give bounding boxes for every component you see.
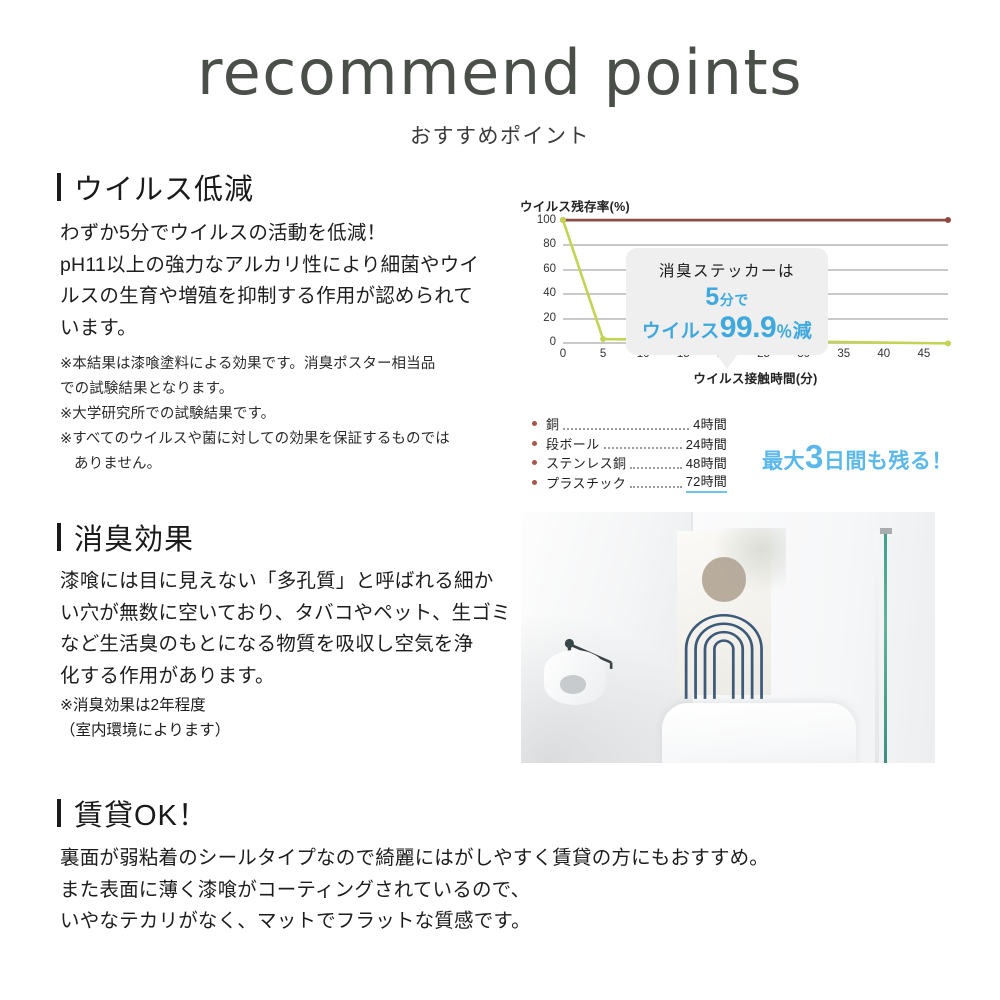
page-title: recommend points: [0, 42, 1000, 104]
recommend-points-page: recommend points おすすめポイント ウイルス低減 わずか5分でウ…: [0, 0, 1000, 1000]
photo-poster: [677, 531, 770, 695]
legend-item-value: 4時間: [693, 414, 727, 433]
section-notes-deodorizing: ※消臭効果は2年程度 （室内環境によります）: [60, 694, 520, 744]
body-line: また表面に薄く漆喰がコーティングされているので、: [60, 875, 960, 907]
note-line: ※本結果は漆喰塗料による効果です。消臭ポスター相当品: [60, 352, 510, 377]
legend-item: プラスチック 72時間: [532, 473, 727, 493]
callout-line-2: 5分で: [634, 285, 820, 310]
note-line: ありません。: [60, 452, 510, 477]
body-line: います。: [60, 313, 510, 345]
note-line: ※消臭効果は2年程度: [60, 694, 520, 719]
toilet-interior-photo: [521, 512, 935, 763]
callout-percent-sign: ％: [776, 324, 793, 341]
legend-item-name: ステンレス銅: [546, 453, 626, 472]
highlight-number: 3: [805, 438, 824, 475]
series-marker: [945, 340, 951, 346]
photo-toilet-paper-core: [560, 675, 587, 694]
callout-percent-value: 99.9: [720, 311, 776, 344]
chart-legend: 銅 4時間 段ボール 24時間 ステンレス銅 48時間 プラスチック 72時間: [532, 414, 727, 492]
note-line: （室内環境によります）: [60, 719, 520, 744]
legend-bullet-icon: [532, 421, 537, 426]
y-tick-label: 40: [543, 287, 556, 299]
callout-minutes-suffix: で: [734, 292, 749, 308]
legend-item: 段ボール 24時間: [532, 434, 727, 454]
callout-virus-word: ウイルス: [642, 321, 720, 342]
callout-minutes: 5: [705, 283, 719, 311]
legend-item: 銅 4時間: [532, 414, 727, 434]
x-tick-label: 0: [560, 348, 566, 360]
body-line: いやなテカリがなく、マットでフラットな質感です。: [60, 906, 960, 938]
section-heading-label: 消臭効果: [74, 516, 194, 558]
legend-bullet-icon: [532, 441, 537, 446]
heading-accent-bar: [57, 799, 61, 827]
x-tick-label: 5: [600, 348, 606, 360]
highlight-suffix: 日間も残る！: [824, 450, 953, 473]
section-notes-virus-reduction: ※本結果は漆喰塗料による効果です。消臭ポスター相当品 での試験結果となります。 …: [60, 352, 510, 477]
section-heading-virus-reduction: ウイルス低減: [57, 166, 254, 208]
y-tick-label: 0: [550, 336, 556, 348]
legend-leader-dots: [563, 418, 689, 430]
legend-bullet-icon: [532, 460, 537, 465]
section-body-deodorizing: 漆喰には目に見えない「多孔質」と呼ばれる細か い穴が無数に空いており、タバコやペ…: [60, 566, 520, 692]
x-tick-label: 35: [837, 348, 850, 360]
callout-minutes-unit: 分: [720, 292, 735, 308]
y-tick-label: 80: [543, 238, 556, 250]
legend-highlight-note: 最大3日間も残る！: [762, 440, 953, 473]
body-line: 裏面が弱粘着のシールタイプなので綺麗にはがしやすく賃貸の方にもおすすめ。: [60, 843, 960, 875]
legend-item-value: 48時間: [686, 453, 727, 472]
photo-poster-arches: [681, 603, 767, 695]
chart-x-axis-title: ウイルス接触時間(分): [563, 368, 948, 387]
note-line: ※すべてのウイルスや菌に対しての効果を保証するものでは: [60, 427, 510, 452]
legend-leader-dots: [630, 476, 682, 488]
legend-item-name: プラスチック: [546, 473, 626, 492]
body-line: い穴が無数に空いており、タバコやペット、生ゴミ: [60, 598, 520, 630]
highlight-prefix: 最大: [762, 450, 805, 473]
body-line: pH11以上の強力なアルカリ性により細菌やウイ: [60, 250, 510, 282]
section-body-rental-ok: 裏面が弱粘着のシールタイプなので綺麗にはがしやすく賃貸の方にもおすすめ。 また表…: [60, 843, 960, 938]
legend-leader-dots: [604, 437, 682, 449]
legend-item-value: 72時間: [686, 471, 727, 493]
photo-toilet: [662, 703, 857, 763]
photo-glass-panel: [875, 532, 879, 763]
photo-glass-bracket: [880, 528, 892, 534]
series-marker: [560, 217, 566, 223]
body-line: など生活臭のもとになる物質を吸収し空気を浄: [60, 629, 520, 661]
photo-poster-circle: [702, 557, 747, 602]
section-heading-rental-ok: 賃貸OK！: [57, 792, 208, 834]
section-heading-label: ウイルス低減: [74, 166, 254, 208]
body-line: ルスの生育や増殖を抑制する作用が認められて: [60, 281, 510, 313]
note-line: ※大学研究所での試験結果です。: [60, 402, 510, 427]
legend-item-name: 段ボール: [546, 434, 600, 453]
y-tick-label: 60: [543, 263, 556, 275]
section-heading-label: 賃貸OK！: [74, 792, 208, 834]
callout-reduce-word: 減: [793, 321, 813, 342]
heading-accent-bar: [57, 523, 61, 551]
legend-item-name: 銅: [546, 414, 559, 433]
callout-line-1: 消臭ステッカーは: [634, 259, 820, 281]
body-line: 漆喰には目に見えない「多孔質」と呼ばれる細か: [60, 566, 520, 598]
y-tick-label: 20: [543, 312, 556, 324]
callout-line-3: ウイルス99.9％減: [634, 313, 820, 343]
series-marker: [945, 217, 951, 223]
note-line: での試験結果となります。: [60, 377, 510, 402]
body-line: 化する作用があります。: [60, 661, 520, 693]
section-heading-deodorizing: 消臭効果: [57, 516, 194, 558]
heading-accent-bar: [57, 173, 61, 201]
body-line: わずか5分でウイルスの活動を低減！: [60, 218, 510, 250]
section-body-virus-reduction: わずか5分でウイルスの活動を低減！ pH11以上の強力なアルカリ性により細菌やウ…: [60, 218, 510, 344]
y-tick-label: 100: [537, 214, 556, 226]
x-tick-label: 45: [918, 348, 931, 360]
chart-y-axis-title: ウイルス残存率(%): [520, 196, 630, 215]
legend-leader-dots: [630, 457, 681, 469]
legend-item-value: 24時間: [686, 434, 727, 453]
photo-glass-edge: [884, 530, 887, 763]
series-marker: [600, 336, 606, 342]
legend-item: ステンレス銅 48時間: [532, 453, 727, 473]
chart-callout-bubble: 消臭ステッカーは 5分で ウイルス99.9％減: [626, 248, 828, 355]
page-header: recommend points おすすめポイント: [0, 42, 1000, 150]
x-tick-label: 40: [877, 348, 890, 360]
page-subtitle: おすすめポイント: [0, 120, 1000, 150]
legend-bullet-icon: [532, 480, 537, 485]
